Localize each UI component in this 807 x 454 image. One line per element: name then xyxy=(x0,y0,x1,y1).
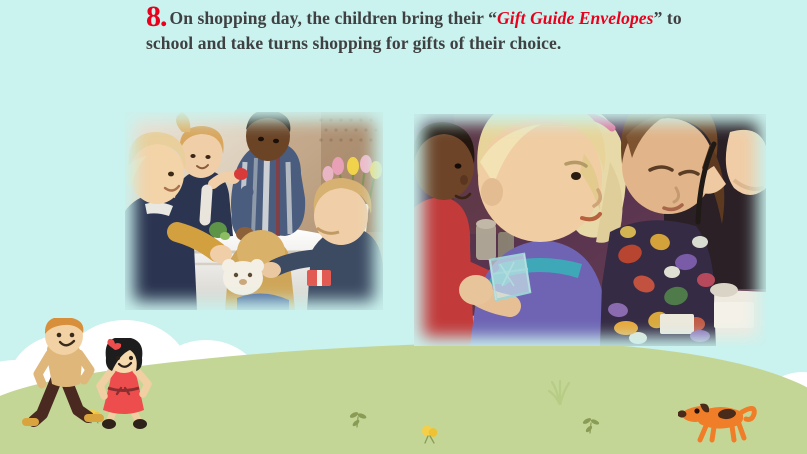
item-number: 8. xyxy=(146,0,167,33)
photo-children-shopping-table xyxy=(125,112,383,310)
running-dog-figure xyxy=(678,390,764,446)
highlighted-phrase: Gift Guide Envelopes xyxy=(497,8,654,28)
body-text-part-1: On shopping day, the children bring thei… xyxy=(170,8,498,28)
photo-children-with-gift-box xyxy=(414,114,766,346)
slide-canvas: 8.On shopping day, the children bring th… xyxy=(0,0,807,454)
leaf-sprig-icon xyxy=(580,416,602,436)
leaf-sprig-icon xyxy=(348,410,370,430)
grass-tuft-icon xyxy=(545,379,575,405)
slide-body-text: 8.On shopping day, the children bring th… xyxy=(146,6,726,56)
butterfly-icon xyxy=(418,423,442,445)
walking-girl-figure xyxy=(86,338,166,434)
